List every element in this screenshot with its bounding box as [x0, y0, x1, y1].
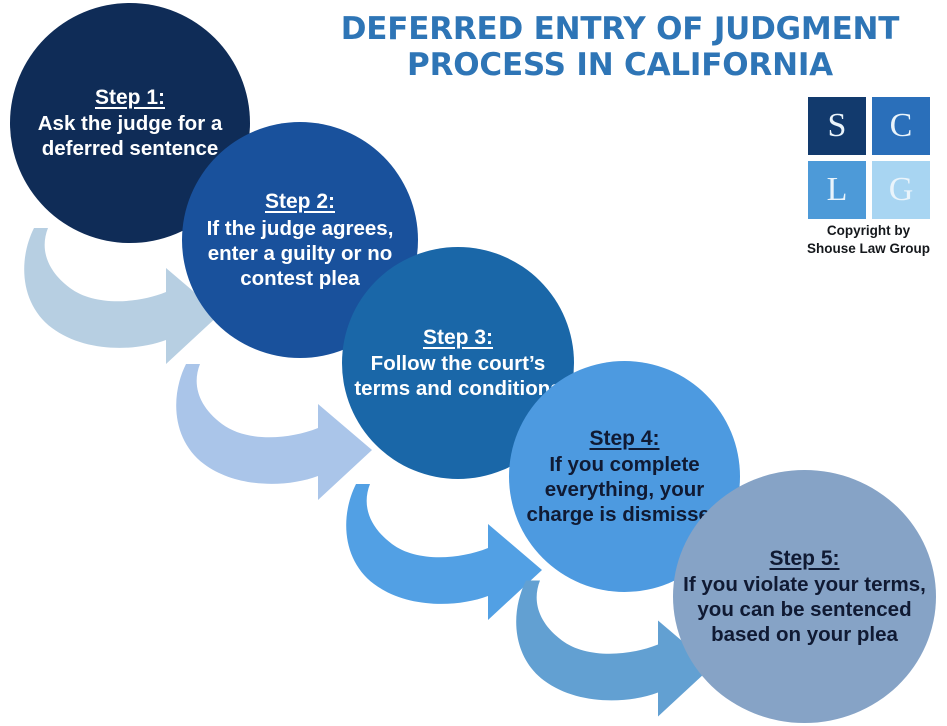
- logo-letter-s: S: [828, 107, 847, 145]
- logo-cell-l: L: [808, 161, 866, 219]
- step-1-label: Step 1:: [16, 85, 244, 111]
- step-4-text: If you complete everything, your charge …: [515, 452, 734, 527]
- step-1-text: Ask the judge for a deferred sentence: [16, 111, 244, 161]
- infographic-canvas: DEFERRED ENTRY OF JUDGMENT PROCESS IN CA…: [0, 0, 947, 726]
- copyright-line-2: Shouse Law Group: [790, 240, 947, 258]
- logo-cell-g: G: [872, 161, 930, 219]
- step-5-content: Step 5: If you violate your terms, you c…: [673, 546, 936, 648]
- step-2-label: Step 2:: [188, 189, 412, 215]
- step-3-content: Step 3: Follow the court’s terms and con…: [342, 325, 574, 402]
- logo-letter-c: C: [890, 107, 913, 145]
- step-3-text: Follow the court’s terms and conditions: [348, 351, 568, 401]
- logo-cell-c: C: [872, 97, 930, 155]
- logo-letter-l: L: [827, 171, 848, 209]
- step-1-content: Step 1: Ask the judge for a deferred sen…: [10, 85, 250, 162]
- copyright-line-1: Copyright by: [790, 222, 947, 240]
- copyright-notice: Copyright by Shouse Law Group: [790, 222, 947, 258]
- step-5-label: Step 5:: [679, 546, 930, 572]
- page-title-line2: PROCESS IN CALIFORNIA: [300, 48, 940, 84]
- step-circle-5[interactable]: Step 5: If you violate your terms, you c…: [673, 470, 936, 723]
- shouse-law-group-logo: S C L G: [808, 97, 930, 219]
- page-title-line1: DEFERRED ENTRY OF JUDGMENT: [341, 11, 900, 47]
- logo-cell-s: S: [808, 97, 866, 155]
- step-5-text: If you violate your terms, you can be se…: [679, 572, 930, 647]
- logo-letter-g: G: [889, 171, 914, 209]
- step-3-label: Step 3:: [348, 325, 568, 351]
- step-4-label: Step 4:: [515, 426, 734, 452]
- page-title: DEFERRED ENTRY OF JUDGMENT PROCESS IN CA…: [300, 12, 940, 84]
